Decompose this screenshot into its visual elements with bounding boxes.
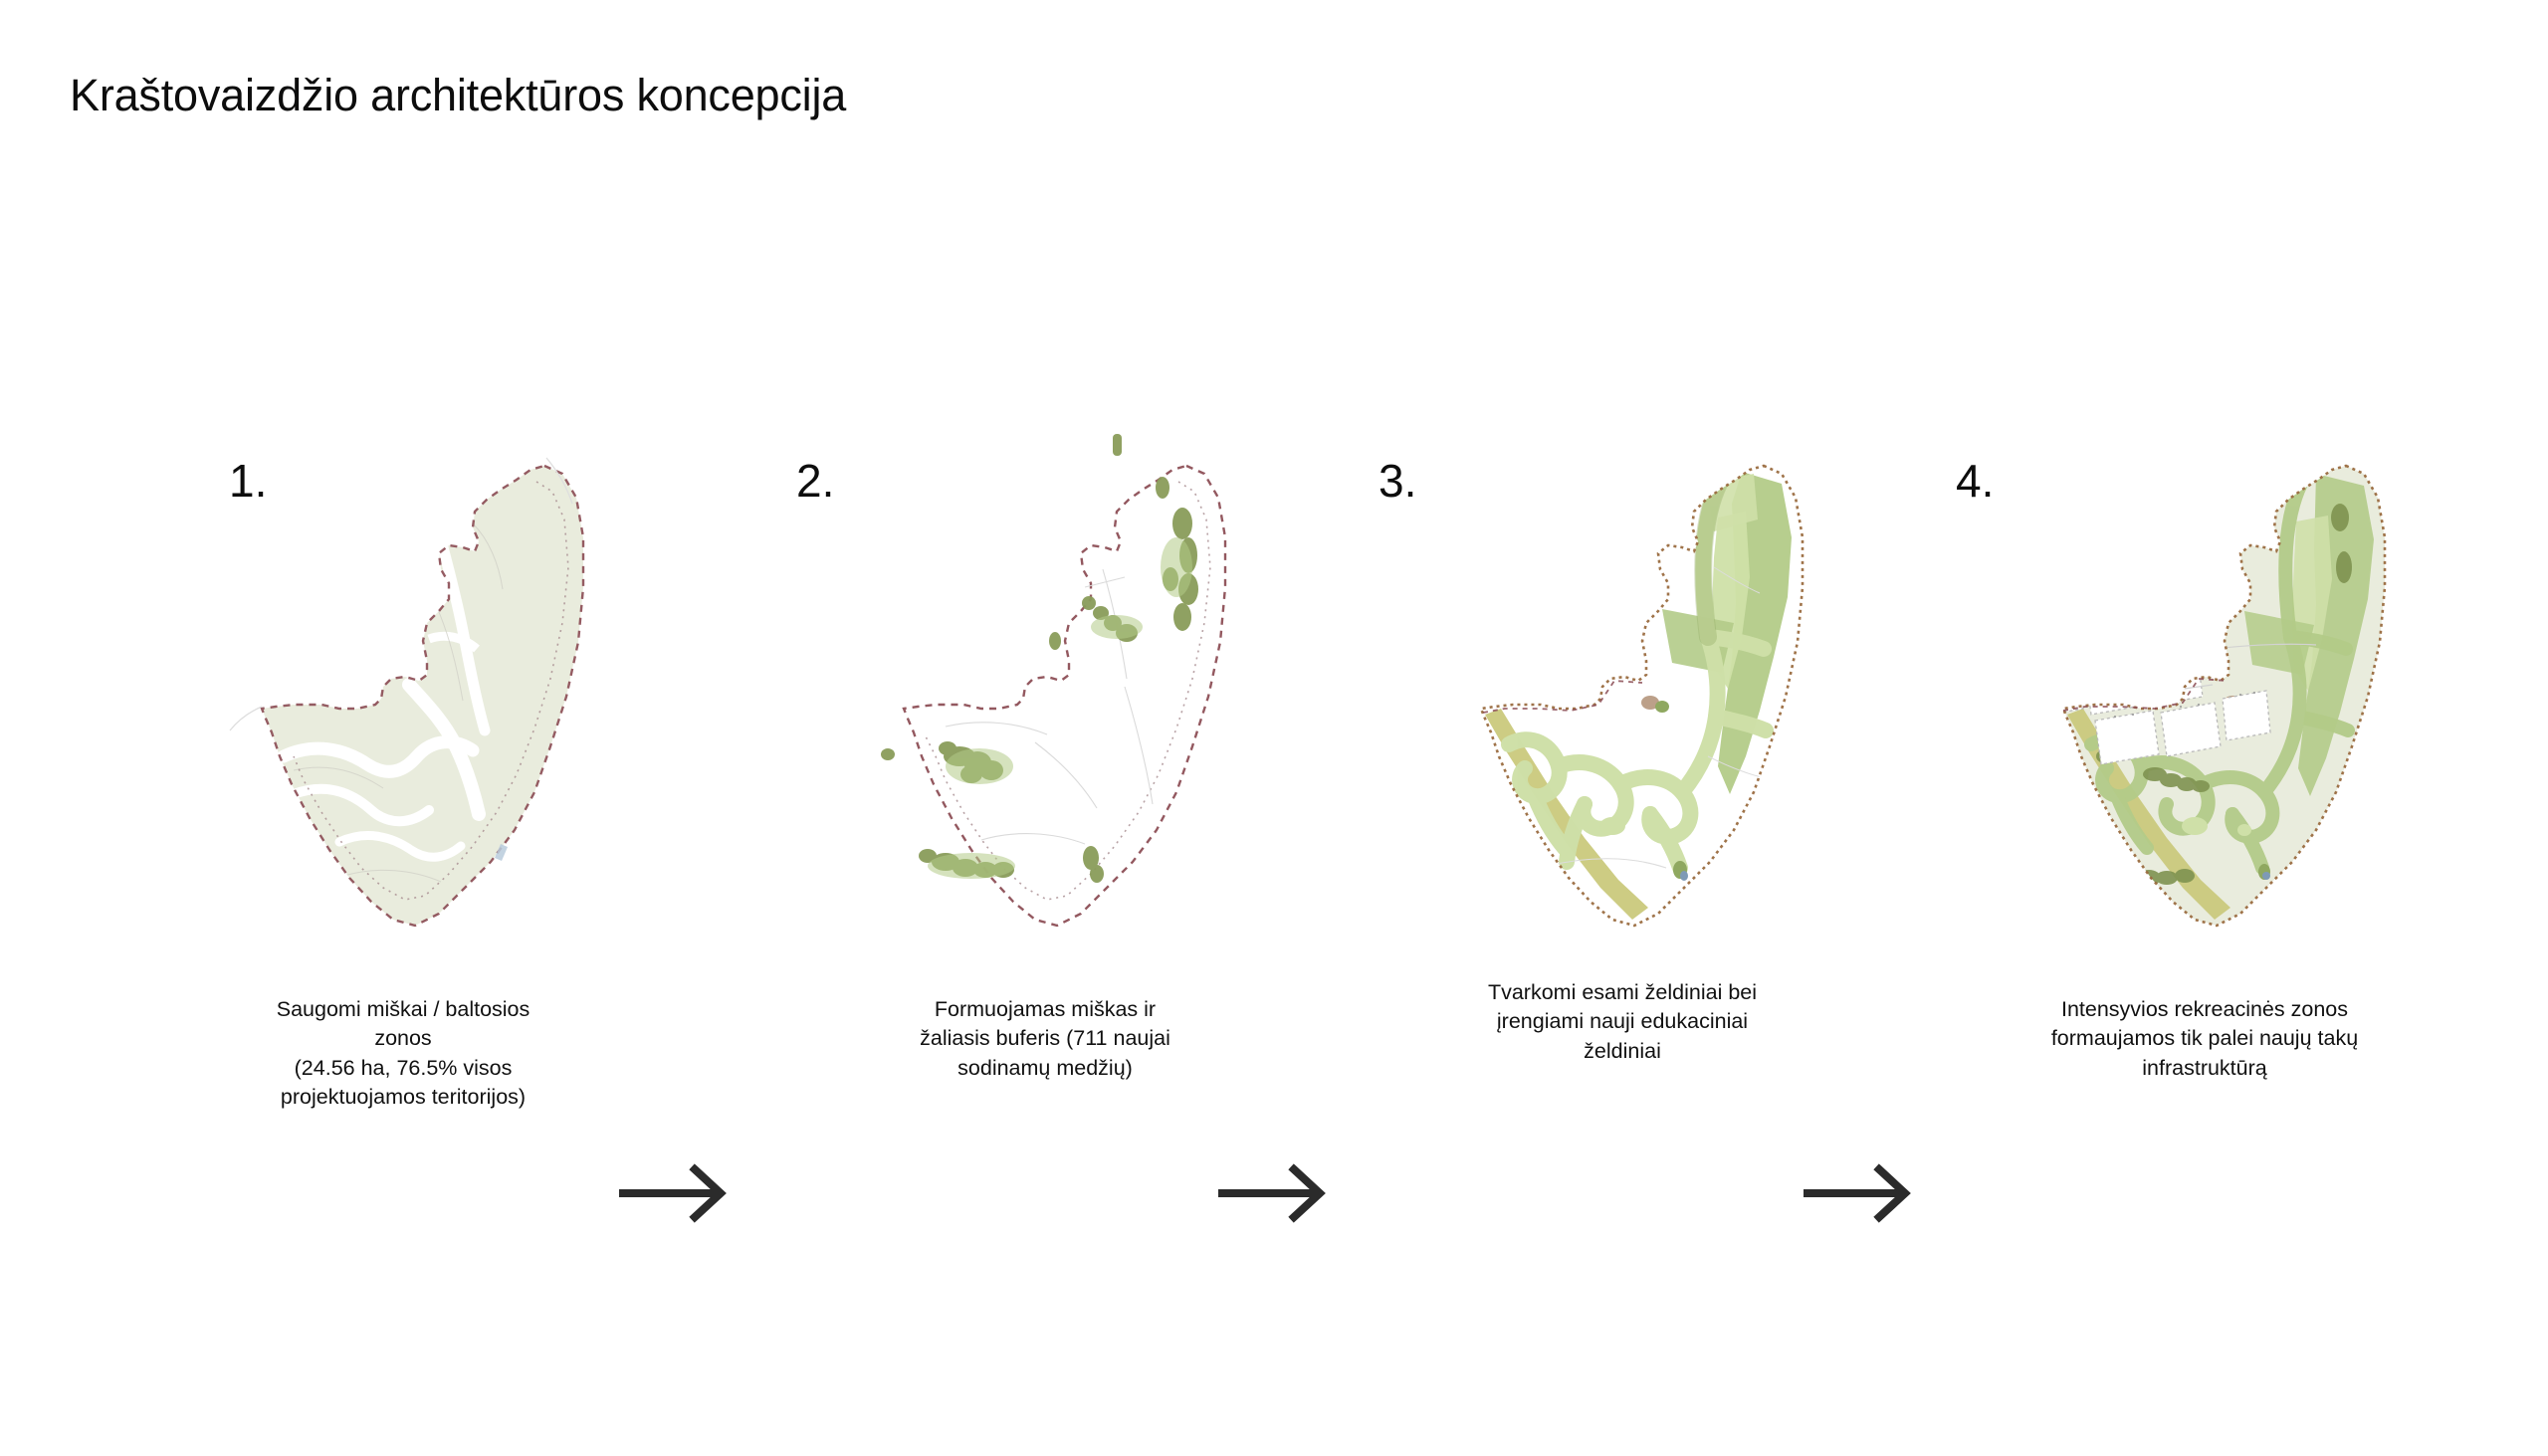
step-caption-1: Saugomi miškai / baltosios zonos (24.56 … xyxy=(144,995,662,1113)
process-flow-diagram: 1. xyxy=(0,428,2548,1144)
process-step-2: 2. xyxy=(786,428,1304,1144)
step-number-3: 3. xyxy=(1379,458,1416,504)
caption-line: įrengiami nauji edukaciniai xyxy=(1364,1007,1881,1036)
caption-line: sodinamų medžių) xyxy=(786,1054,1304,1083)
step-caption-2: Formuojamas miškas ir žaliasis buferis (… xyxy=(786,995,1304,1083)
caption-line: žaliasis buferis (711 naujai xyxy=(786,1024,1304,1053)
caption-line: Formuojamas miškas ir xyxy=(786,995,1304,1024)
caption-line: želdiniai xyxy=(1364,1037,1881,1066)
site-map-managed-and-educational-planting xyxy=(1364,428,1881,985)
process-step-3: 3. xyxy=(1364,428,1881,1144)
caption-line: Intensyvios rekreacinės zonos xyxy=(1946,995,2463,1024)
site-map-recreation-zones-masterplan xyxy=(1946,428,2463,985)
caption-line: Tvarkomi esami želdiniai bei xyxy=(1364,978,1881,1007)
site-map-new-forest-green-buffer xyxy=(786,428,1304,985)
step-number-1: 1. xyxy=(229,458,267,504)
caption-line: projektuojamos teritorijos) xyxy=(144,1083,662,1112)
arrow-right-icon xyxy=(1802,1162,1923,1224)
step-number-4: 4. xyxy=(1956,458,1994,504)
caption-line: (24.56 ha, 76.5% visos xyxy=(144,1054,662,1083)
step-number-2: 2. xyxy=(796,458,834,504)
site-map-protected-forests xyxy=(144,428,662,985)
page-title: Kraštovaizdžio architektūros koncepcija xyxy=(70,70,846,121)
caption-line: infrastruktūrą xyxy=(1946,1054,2463,1083)
process-step-4: 4. xyxy=(1946,428,2463,1144)
step-caption-3: Tvarkomi esami želdiniai bei įrengiami n… xyxy=(1364,978,1881,1066)
arrow-right-icon xyxy=(617,1162,739,1224)
caption-line: Saugomi miškai / baltosios xyxy=(144,995,662,1024)
step-caption-4: Intensyvios rekreacinės zonos formaujamo… xyxy=(1946,995,2463,1083)
process-step-1: 1. xyxy=(144,428,662,1144)
caption-line: formaujamos tik palei naujų takų xyxy=(1946,1024,2463,1053)
caption-line: zonos xyxy=(144,1024,662,1053)
arrow-right-icon xyxy=(1216,1162,1338,1224)
